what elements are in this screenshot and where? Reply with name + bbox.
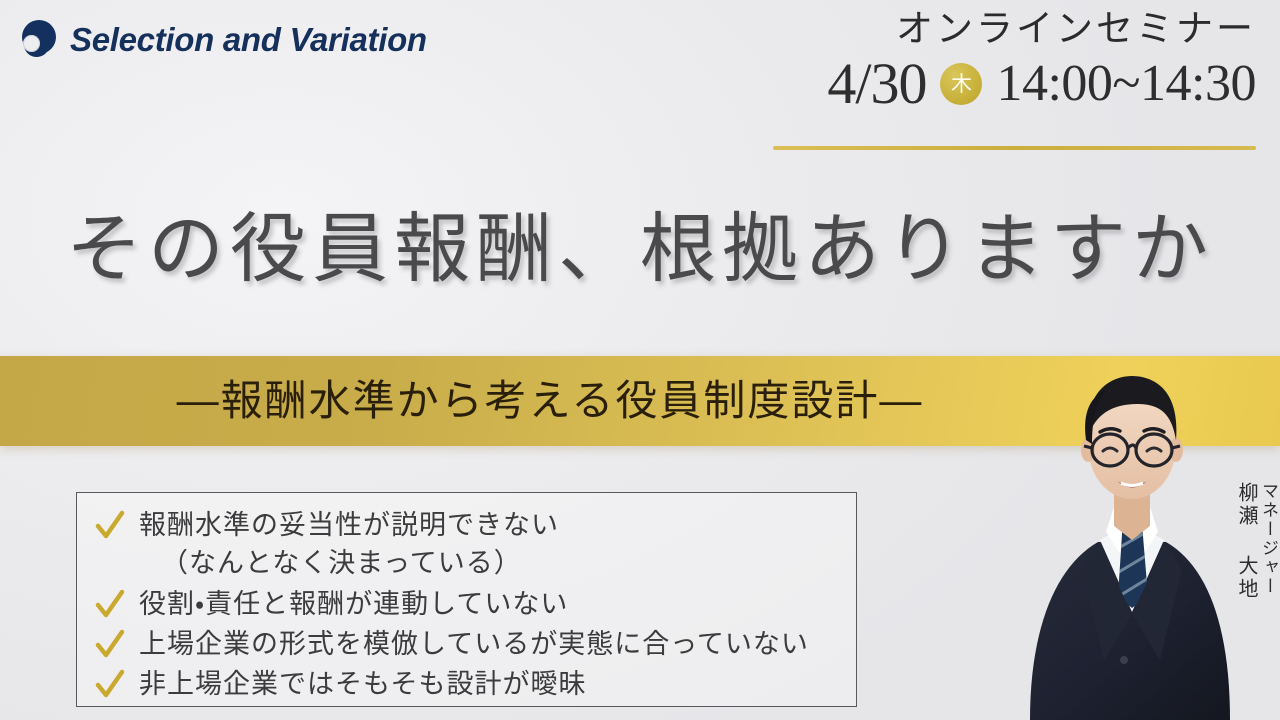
date-time-row: 4/30 木 14:00~14:30 <box>756 53 1256 115</box>
list-item-label: 役割・責任と報酬が連動していない <box>139 586 568 624</box>
list-item-label: 上場企業の形式を模倣しているが実態に合っていない <box>139 626 809 664</box>
list-item: 役割・責任と報酬が連動していない <box>95 586 856 624</box>
list-item-label: 報酬水準の妥当性が説明できない <box>139 507 559 545</box>
date-underline-rule <box>773 146 1256 150</box>
check-icon <box>95 509 125 543</box>
event-date: 4/30 <box>827 55 926 113</box>
presenter-name-block: マネージャー 柳瀬 大地 <box>1237 482 1276 601</box>
check-icon <box>95 588 125 622</box>
brand-name: Selection and Variation <box>70 23 427 56</box>
list-item: 非上場企業ではそもそも設計が曖昧 <box>95 666 856 704</box>
presenter-photo <box>1026 360 1234 720</box>
presenter-title: マネージャー <box>1259 482 1276 601</box>
check-icon <box>95 668 125 702</box>
list-item: 上場企業の形式を模倣しているが実態に合っていない <box>95 626 856 664</box>
event-datetime-block: オンラインセミナー 4/30 木 14:00~14:30 <box>756 8 1256 115</box>
presenter-name: 柳瀬 大地 <box>1237 482 1257 601</box>
page-title: その役員報酬、根拠ありますか <box>0 206 1280 291</box>
comma-disc-logo-icon <box>18 18 58 60</box>
list-item-sublabel: （なんとなく決まっている） <box>139 545 559 583</box>
check-icon <box>95 628 125 662</box>
weekday-badge: 木 <box>940 63 982 105</box>
event-time: 14:00~14:30 <box>996 58 1256 110</box>
list-item: 報酬水準の妥当性が説明できない （なんとなく決まっている） <box>95 507 856 584</box>
subtitle-text: ―報酬水準から考える役員制度設計― <box>177 380 1104 422</box>
seminar-poster: Selection and Variation オンラインセミナー 4/30 木… <box>0 0 1280 720</box>
brand-logo: Selection and Variation <box>18 18 427 60</box>
pain-point-list: 報酬水準の妥当性が説明できない （なんとなく決まっている） 役割・責任と報酬が連… <box>76 492 857 707</box>
seminar-kind-label: オンラインセミナー <box>756 8 1256 51</box>
list-item-label: 非上場企業ではそもそも設計が曖昧 <box>139 666 586 704</box>
